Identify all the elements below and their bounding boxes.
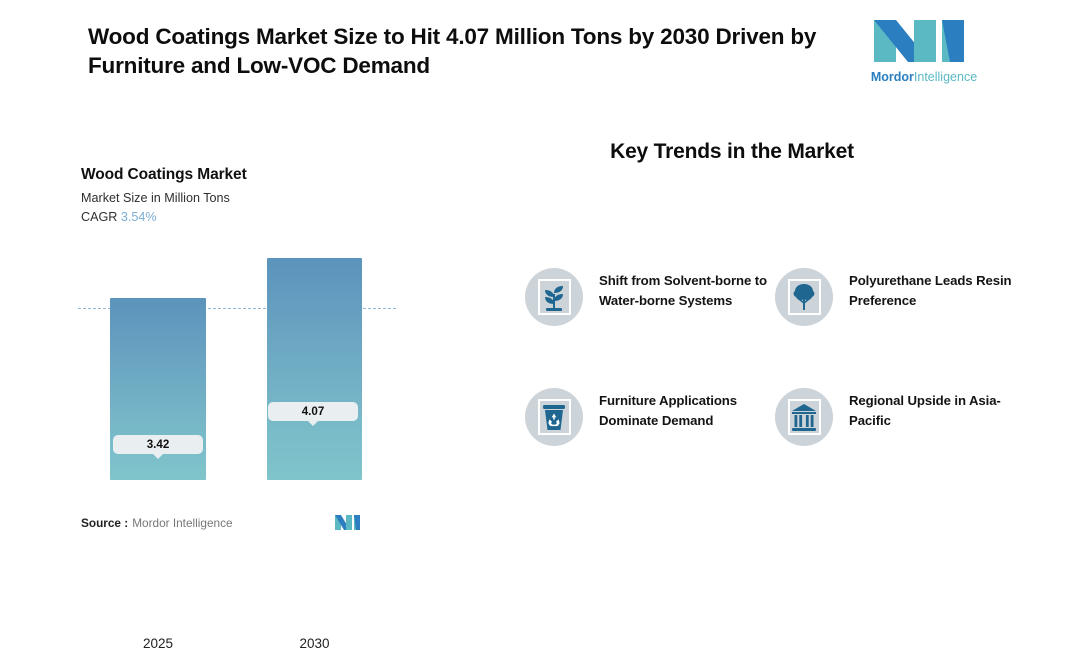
page-title: Wood Coatings Market Size to Hit 4.07 Mi… [88, 22, 848, 80]
source-label: Source : [81, 516, 128, 530]
source-logo-icon [334, 514, 362, 531]
trend-item-solvent-to-waterborne[interactable]: Shift from Solvent-borne to Water-borne … [525, 268, 800, 358]
trend-label: Polyurethane Leads Resin Preference [849, 271, 1034, 311]
x-axis-tick-2025: 2025 [110, 636, 206, 651]
brand-logo: MordorIntelligence [868, 12, 980, 92]
recycle-bin-icon [525, 388, 583, 446]
bank-icon [775, 388, 833, 446]
brand-word-light: Intelligence [914, 70, 977, 84]
trend-item-polyurethane-resin[interactable]: Polyurethane Leads Resin Preference [775, 268, 1050, 358]
tree-icon [775, 268, 833, 326]
source-value: Mordor Intelligence [132, 516, 232, 530]
trend-item-furniture-applications[interactable]: Furniture Applications Dominate Demand [525, 388, 800, 478]
brand-word-bold: Mordor [871, 70, 914, 84]
trend-label: Shift from Solvent-borne to Water-borne … [599, 271, 789, 311]
brand-wordmark: MordorIntelligence [868, 70, 980, 84]
chart-panel: Wood Coatings Market Market Size in Mill… [0, 150, 440, 550]
header: Wood Coatings Market Size to Hit 4.07 Mi… [0, 0, 1075, 110]
key-trends-heading: Key Trends in the Market [532, 140, 932, 164]
key-trends-section: Key Trends in the Market Shift from Solv… [500, 128, 1075, 528]
mordor-intelligence-logo-icon [868, 12, 980, 70]
bar-value-label-2030: 4.07 [268, 402, 358, 421]
seedling-icon [525, 268, 583, 326]
bar-value-label-2025: 3.42 [113, 435, 203, 454]
x-axis-tick-2030: 2030 [267, 636, 362, 651]
trend-item-asia-pacific[interactable]: Regional Upside in Asia-Pacific [775, 388, 1050, 478]
source-note: Source :Mordor Intelligence [81, 516, 233, 530]
bar-2030[interactable] [267, 258, 362, 480]
bar-chart-plot: 3.42 4.07 2025 2030 [0, 150, 440, 550]
trend-label: Furniture Applications Dominate Demand [599, 391, 789, 431]
trend-label: Regional Upside in Asia-Pacific [849, 391, 1034, 431]
